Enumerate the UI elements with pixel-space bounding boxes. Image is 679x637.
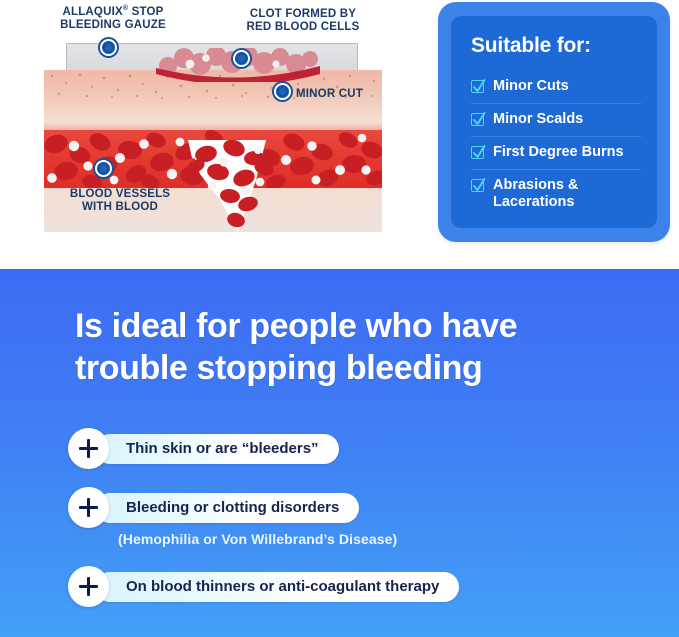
label-minor-cut: MINOR CUT — [296, 88, 396, 101]
suitable-item-label: First Degree Burns — [493, 144, 624, 161]
wound-cut-shape — [88, 140, 382, 232]
suitable-for-panel: Suitable for: Minor Cuts Minor Scalds Fi… — [451, 16, 657, 228]
suitable-item: Minor Scalds — [471, 111, 641, 137]
benefit-label: On blood thinners or anti-coagulant ther… — [95, 572, 459, 602]
benefit-row: Thin skin or are “bleeders” — [68, 428, 339, 469]
suitable-item: Abrasions & Lacerations — [471, 177, 641, 219]
marker-clot — [233, 50, 250, 67]
top-section: ALLAQUIX® STOP BLEEDING GAUZE CLOT FORME… — [0, 0, 679, 265]
checkbox-checked-icon — [471, 113, 484, 126]
benefit-label: Bleeding or clotting disorders — [95, 493, 359, 523]
plus-icon — [68, 487, 109, 528]
benefit-row: Bleeding or clotting disorders — [68, 487, 359, 528]
panel-heading: Is ideal for people who have trouble sto… — [75, 305, 620, 389]
ideal-for-panel: Is ideal for people who have trouble sto… — [0, 269, 679, 637]
marker-minor-cut — [274, 83, 291, 100]
label-clot-formed: CLOT FORMED BY RED BLOOD CELLS — [228, 8, 378, 34]
checkbox-checked-icon — [471, 146, 484, 159]
label-blood-vessels: BLOOD VESSELS WITH BLOOD — [40, 188, 200, 214]
suitable-item-label: Minor Scalds — [493, 111, 583, 128]
suitable-item: First Degree Burns — [471, 144, 641, 170]
benefit-row: On blood thinners or anti-coagulant ther… — [68, 566, 459, 607]
suitable-item-label: Minor Cuts — [493, 78, 569, 95]
marker-gauze — [100, 39, 117, 56]
checkbox-checked-icon — [471, 80, 484, 93]
suitable-item-label: Abrasions & Lacerations — [493, 177, 578, 211]
suitable-item: Minor Cuts — [471, 78, 641, 104]
benefit-label: Thin skin or are “bleeders” — [95, 434, 339, 464]
skin-wound-diagram: ALLAQUIX® STOP BLEEDING GAUZE CLOT FORME… — [0, 0, 425, 250]
label-allaquix-gauze: ALLAQUIX® STOP BLEEDING GAUZE — [28, 2, 198, 32]
suitable-for-title: Suitable for: — [471, 34, 641, 58]
benefit-subnote: (Hemophilia or Von Willebrand’s Disease) — [118, 531, 397, 547]
suitable-for-card: Suitable for: Minor Cuts Minor Scalds Fi… — [438, 2, 670, 242]
checkbox-checked-icon — [471, 179, 484, 192]
marker-blood-vessels — [95, 160, 112, 177]
plus-icon — [68, 566, 109, 607]
plus-icon — [68, 428, 109, 469]
